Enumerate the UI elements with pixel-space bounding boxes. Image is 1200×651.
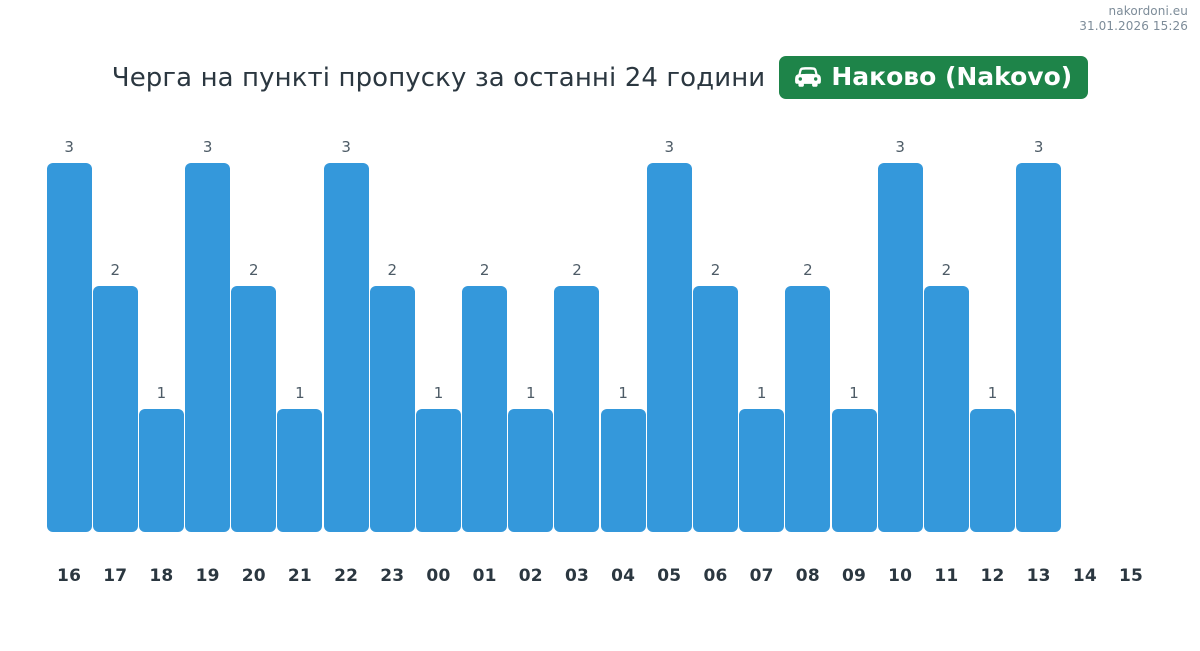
bar-value-label: 1 <box>831 386 877 401</box>
bar-value-label: 2 <box>462 263 508 278</box>
bar-value-label: 1 <box>739 386 785 401</box>
x-axis-tick: 15 <box>1108 566 1154 586</box>
bar[interactable] <box>93 286 138 532</box>
bar[interactable] <box>554 286 599 532</box>
watermark-timestamp: 31.01.2026 15:26 <box>1079 19 1188 34</box>
bar[interactable] <box>416 409 461 532</box>
bar-slot[interactable]: 1 <box>969 140 1015 532</box>
car-icon <box>793 66 823 88</box>
bar-value-label: 1 <box>508 386 554 401</box>
bar[interactable] <box>324 163 369 532</box>
bar-slot[interactable]: 3 <box>185 140 231 532</box>
bar-value-label: 3 <box>323 140 369 155</box>
bar[interactable] <box>1016 163 1061 532</box>
bar-slot[interactable]: 2 <box>554 140 600 532</box>
x-axis-tick: 18 <box>138 566 184 586</box>
x-axis-tick: 23 <box>369 566 415 586</box>
x-axis-tick: 10 <box>877 566 923 586</box>
watermark-site: nakordoni.eu <box>1109 4 1188 18</box>
bar-slot[interactable]: 1 <box>415 140 461 532</box>
checkpoint-badge[interactable]: Наково (Nakovo) <box>779 56 1088 99</box>
bar-slot[interactable]: 1 <box>739 140 785 532</box>
bar-value-label: 3 <box>1016 140 1062 155</box>
bar-value-label: 2 <box>92 263 138 278</box>
bar[interactable] <box>924 286 969 532</box>
chart-plot-area: 3213213212121321213213 <box>46 140 1154 532</box>
bar[interactable] <box>693 286 738 532</box>
x-axis-tick: 06 <box>692 566 738 586</box>
bar-slot[interactable]: 2 <box>692 140 738 532</box>
bar-value-label: 2 <box>785 263 831 278</box>
x-axis-tick: 02 <box>508 566 554 586</box>
bar[interactable] <box>739 409 784 532</box>
bar-value-label: 2 <box>231 263 277 278</box>
x-axis-tick: 11 <box>923 566 969 586</box>
bar[interactable] <box>185 163 230 532</box>
bar-slot[interactable]: 2 <box>369 140 415 532</box>
x-axis-tick: 20 <box>231 566 277 586</box>
bar-value-label: 2 <box>369 263 415 278</box>
bar-value-label: 1 <box>969 386 1015 401</box>
x-axis: 1617181920212223000102030405060708091011… <box>46 566 1154 586</box>
bar[interactable] <box>785 286 830 532</box>
bar-slot[interactable] <box>1108 140 1154 532</box>
bar[interactable] <box>370 286 415 532</box>
x-axis-tick: 17 <box>92 566 138 586</box>
bar-slot[interactable]: 2 <box>462 140 508 532</box>
bar-value-label: 3 <box>185 140 231 155</box>
bar-slot[interactable]: 2 <box>92 140 138 532</box>
bar-slot[interactable]: 1 <box>600 140 646 532</box>
x-axis-tick: 09 <box>831 566 877 586</box>
bar[interactable] <box>462 286 507 532</box>
x-axis-tick: 04 <box>600 566 646 586</box>
bar-value-label: 3 <box>877 140 923 155</box>
x-axis-tick: 00 <box>415 566 461 586</box>
bar-slot[interactable]: 2 <box>923 140 969 532</box>
bar-value-label: 1 <box>415 386 461 401</box>
bar[interactable] <box>832 409 877 532</box>
x-axis-tick: 07 <box>739 566 785 586</box>
bar-slot[interactable]: 1 <box>138 140 184 532</box>
page-title: Черга на пункті пропуску за останні 24 г… <box>112 63 766 93</box>
bar-slot[interactable]: 3 <box>46 140 92 532</box>
bar-value-label: 1 <box>277 386 323 401</box>
x-axis-tick: 08 <box>785 566 831 586</box>
bar-slot[interactable]: 3 <box>1016 140 1062 532</box>
bar[interactable] <box>47 163 92 532</box>
bar-value-label: 1 <box>600 386 646 401</box>
bar[interactable] <box>139 409 184 532</box>
bar-value-label: 3 <box>46 140 92 155</box>
bar-slot[interactable] <box>1062 140 1108 532</box>
bar-slot[interactable]: 1 <box>277 140 323 532</box>
bar-slot[interactable]: 3 <box>646 140 692 532</box>
x-axis-tick: 16 <box>46 566 92 586</box>
bar[interactable] <box>277 409 322 532</box>
x-axis-tick: 05 <box>646 566 692 586</box>
bar[interactable] <box>647 163 692 532</box>
bar[interactable] <box>508 409 553 532</box>
bar-slot[interactable]: 3 <box>323 140 369 532</box>
bar-slot[interactable]: 2 <box>785 140 831 532</box>
x-axis-tick: 13 <box>1016 566 1062 586</box>
bar-value-label: 3 <box>646 140 692 155</box>
x-axis-tick: 21 <box>277 566 323 586</box>
checkpoint-badge-label: Наково (Nakovo) <box>831 64 1072 90</box>
chart-header: Черга на пункті пропуску за останні 24 г… <box>0 56 1200 99</box>
x-axis-tick: 22 <box>323 566 369 586</box>
bar[interactable] <box>878 163 923 532</box>
bar-value-label: 2 <box>554 263 600 278</box>
x-axis-tick: 19 <box>185 566 231 586</box>
bar-slot[interactable]: 1 <box>831 140 877 532</box>
x-axis-tick: 12 <box>969 566 1015 586</box>
bar-slot[interactable]: 1 <box>508 140 554 532</box>
bar-value-label: 2 <box>692 263 738 278</box>
bar-slot[interactable]: 2 <box>231 140 277 532</box>
bar-slot[interactable]: 3 <box>877 140 923 532</box>
bar-value-label: 1 <box>138 386 184 401</box>
x-axis-tick: 01 <box>462 566 508 586</box>
bar[interactable] <box>601 409 646 532</box>
bar[interactable] <box>231 286 276 532</box>
x-axis-tick: 14 <box>1062 566 1108 586</box>
watermark: nakordoni.eu 31.01.2026 15:26 <box>1079 4 1188 34</box>
x-axis-tick: 03 <box>554 566 600 586</box>
bar[interactable] <box>970 409 1015 532</box>
bar-value-label: 2 <box>923 263 969 278</box>
bar-series: 3213213212121321213213 <box>46 140 1154 532</box>
